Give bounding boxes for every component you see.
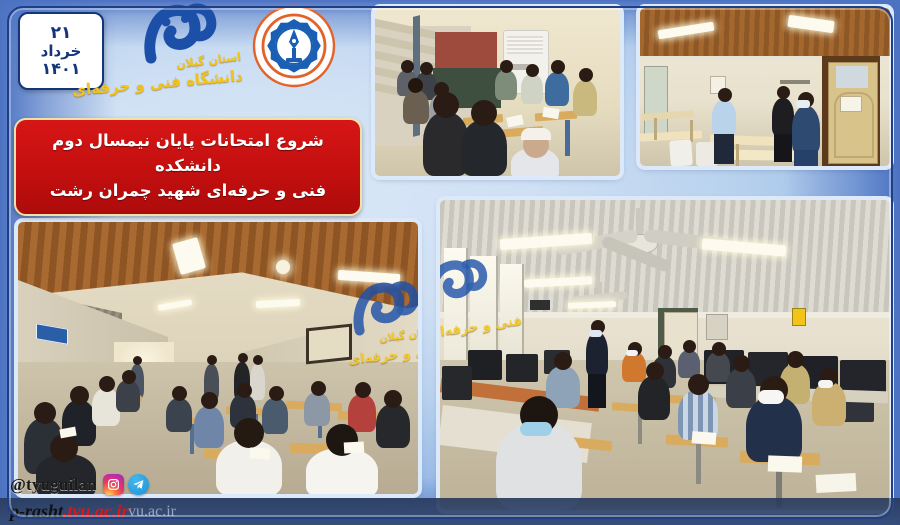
date-badge: ۲۱ خرداد ۱۴۰۱ (18, 12, 104, 90)
university-wordmark: استان گیلان دانشگاه فنی و حرفه‌ای (115, 2, 243, 107)
social-handle-text: @tyuguilan (10, 475, 97, 495)
footer-url-ghost: vu.ac.ir (128, 503, 176, 521)
footer-website-url[interactable]: p-rasht.tvu.ac.ir (10, 501, 129, 522)
date-year: ۱۴۰۱ (41, 60, 80, 78)
photo-computer-lab-exam: فنی و حرفه‌ای (440, 200, 890, 510)
photo-exam-hall-stairs (375, 8, 620, 176)
university-seal-icon (252, 4, 336, 88)
social-handles: @tyuguilan (10, 474, 149, 495)
url-prefix: p-rasht (10, 501, 63, 521)
instagram-icon[interactable] (103, 474, 124, 495)
photo-corridor-exam: استان گیلان فنی و حرفه‌ای (18, 222, 418, 494)
photo-officials-classroom (640, 8, 890, 166)
headline-banner: شروع امتحانات پایان نیمسال دوم دانشکده ف… (14, 118, 362, 216)
poster-canvas: ۲۱ خرداد ۱۴۰۱ استان گیلان دانشگاه فنی و … (0, 0, 900, 525)
date-month: خرداد (41, 43, 82, 60)
telegram-icon[interactable] (128, 474, 149, 495)
headline-line-2: فنی و حرفه‌ای شهید چمران رشت (30, 179, 346, 204)
headline-line-1: شروع امتحانات پایان نیمسال دوم دانشکده (30, 129, 346, 179)
date-day: ۲۱ (51, 24, 72, 43)
url-suffix: .tvu.ac.ir (63, 501, 129, 521)
